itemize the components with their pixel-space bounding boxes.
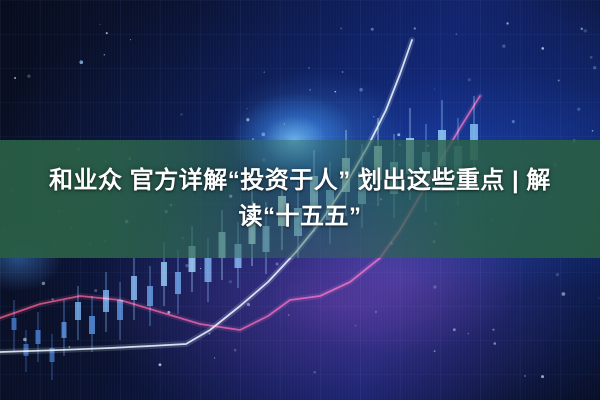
headline-line-2: 读“十五五” <box>239 202 362 232</box>
headline-line-1: 和业众 官方详解“投资于人” 划出这些重点 | 解 <box>49 166 551 196</box>
cover-image: 和业众 官方详解“投资于人” 划出这些重点 | 解 读“十五五” <box>0 0 600 400</box>
headline-block: 和业众 官方详解“投资于人” 划出这些重点 | 解 读“十五五” <box>0 140 600 258</box>
